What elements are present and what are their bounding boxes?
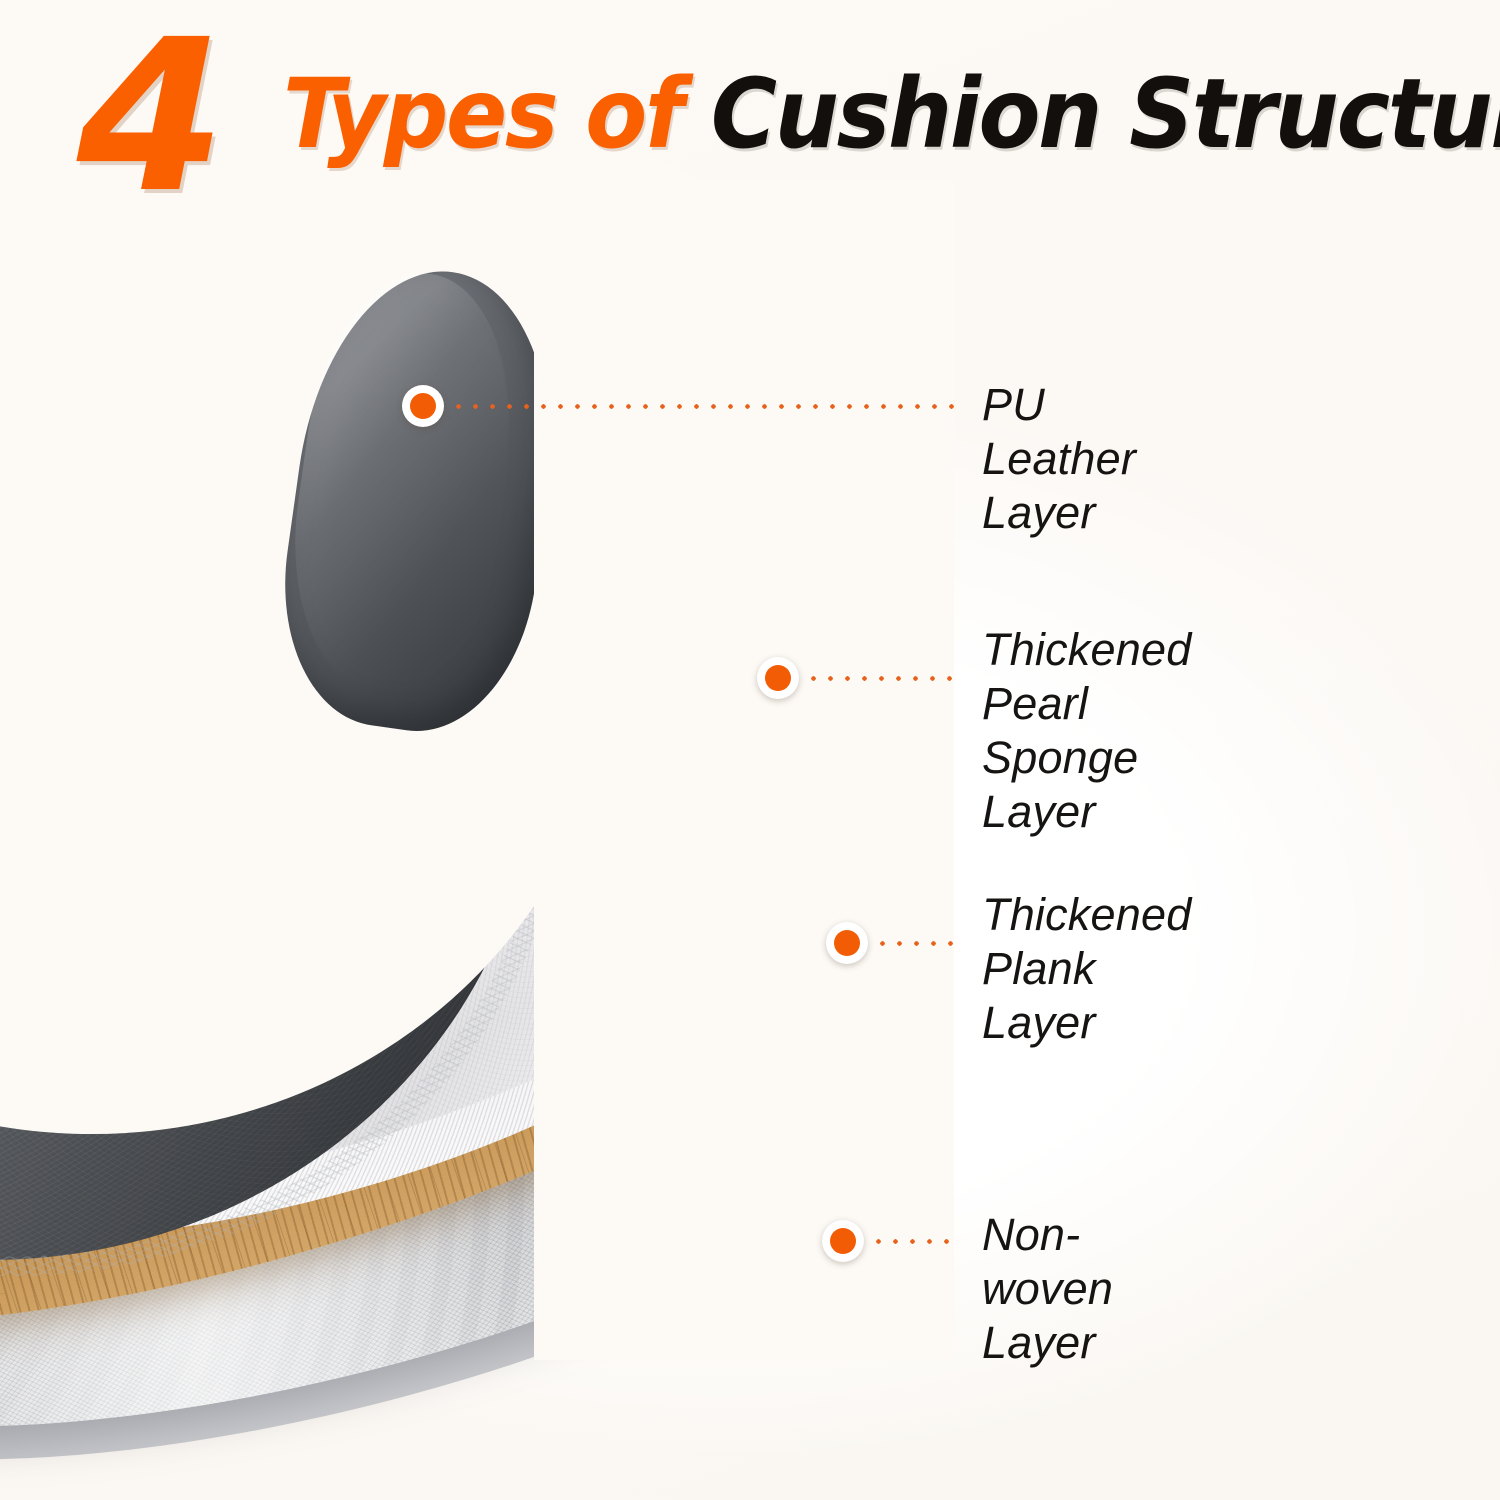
callout-label-plank: Thickened Plank Layer [982,888,1191,1050]
page-title-orange: Types of [283,58,682,170]
header: 4 Types of Cushion Structures [0,0,1500,230]
callout-dot-pu-leather[interactable] [402,385,444,427]
page-title: Types of Cushion Structures [283,66,1500,162]
callout-dot-pearl-sponge[interactable] [757,657,799,699]
infographic-canvas: 4 Types of Cushion Structures PU Leather… [0,0,1500,1500]
callout-label-pu-leather: PU Leather Layer [982,378,1136,540]
pu-leather-layer [0,220,700,1300]
callout-dot-plank[interactable] [826,922,868,964]
leader-line-pu-leather [450,402,955,411]
callout-label-pearl-sponge: Thickened Pearl Sponge Layer [982,623,1191,839]
pu-leather-right-mask [534,180,954,1360]
callout-dot-non-woven[interactable] [822,1220,864,1262]
page-title-black: Cushion Structures [711,58,1500,170]
callout-label-non-woven: Non-woven Layer [982,1208,1113,1370]
leader-line-non-woven [870,1237,958,1246]
headline-number: 4 [77,12,220,222]
leader-line-pearl-sponge [805,674,957,683]
leader-line-plank [874,939,957,948]
